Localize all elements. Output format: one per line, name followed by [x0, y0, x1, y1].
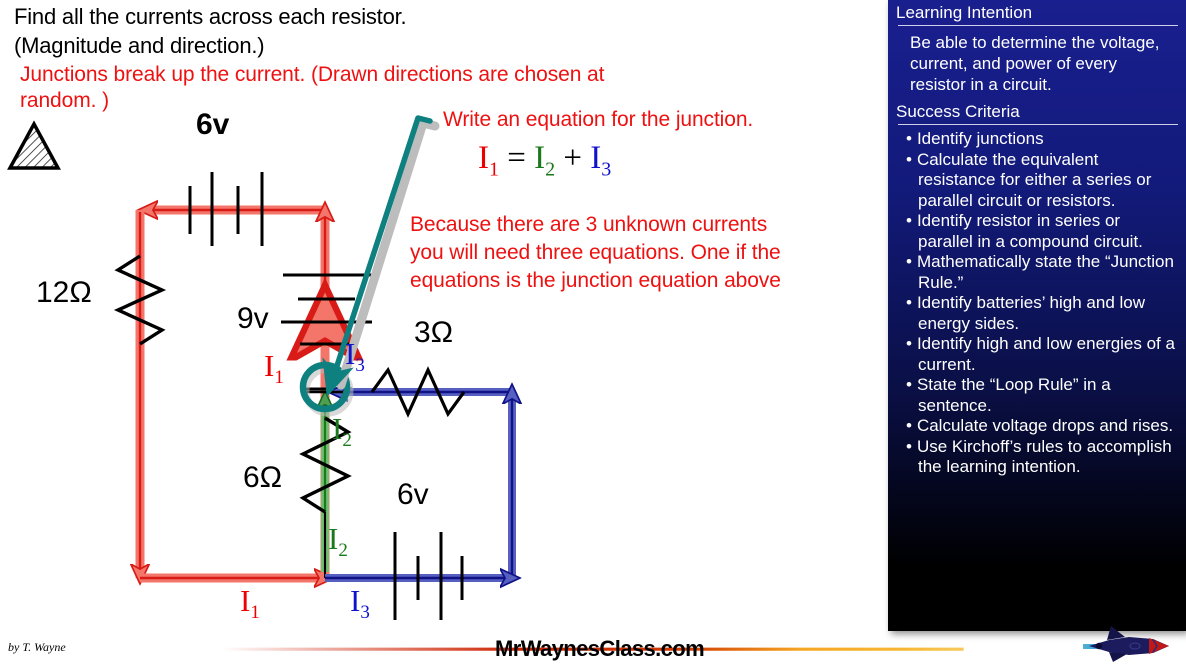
reason-line-2: you will need three equations. One if th…: [410, 240, 781, 266]
equation-equals: =: [507, 140, 526, 176]
label-resistor-3ohm: 3Ω: [414, 316, 453, 350]
current-subscript: 2: [338, 540, 348, 561]
current-subscript: 3: [360, 602, 370, 623]
learning-intention-heading: Learning Intention: [896, 2, 1180, 23]
current-symbol: I: [240, 583, 250, 618]
label-resistor-12ohm: 12Ω: [36, 276, 92, 310]
equation-i1: I: [478, 140, 489, 176]
success-criteria-list: Identify junctions Calculate the equival…: [896, 129, 1180, 478]
list-item: State the “Loop Rule” in a sentence.: [906, 375, 1178, 416]
label-battery-6v-bottom: 6v: [397, 478, 429, 512]
current-subscript: 1: [274, 367, 284, 388]
label-battery-6v-top: 6v: [196, 108, 229, 142]
current-label-i1-upper: I1: [264, 348, 284, 389]
success-criteria-heading: Success Criteria: [896, 101, 1180, 122]
current-subscript: 1: [250, 602, 260, 623]
current-label-i3-lower: I3: [350, 583, 370, 624]
list-item: Identify resistor in series or parallel …: [906, 211, 1178, 252]
reason-line-1: Because there are 3 unknown currents: [410, 212, 767, 238]
pointer-callout-label: Write an equation for the junction.: [443, 107, 753, 133]
list-item: Identify junctions: [906, 129, 1178, 150]
equation-i1-sub: 1: [489, 159, 499, 181]
current-subscript: 2: [342, 430, 352, 451]
list-item: Identify high and low energies of a curr…: [906, 334, 1178, 375]
site-name: MrWaynesClass.com: [495, 636, 704, 662]
byline: by T. Wayne: [8, 640, 66, 655]
divider-learning-intention: [898, 25, 1178, 26]
reason-line-3: equations is the junction equation above: [410, 268, 781, 294]
equation-i3-sub: 3: [601, 159, 611, 181]
current-label-i2-lower: I2: [328, 521, 348, 562]
current-symbol: I: [345, 336, 355, 371]
learning-intention-body: Be able to determine the voltage, curren…: [896, 30, 1180, 101]
list-item: Use Kirchoff’s rules to accomplish the l…: [906, 437, 1178, 478]
list-item: Calculate voltage drops and rises.: [906, 416, 1178, 437]
current-symbol: I: [332, 411, 342, 446]
equation-plus: +: [563, 140, 582, 176]
divider-success-criteria: [898, 124, 1178, 125]
label-resistor-6ohm: 6Ω: [243, 461, 282, 495]
equation-i2: I: [534, 140, 545, 176]
label-battery-9v: 9v: [237, 302, 269, 336]
equation-i3: I: [590, 140, 601, 176]
current-symbol: I: [350, 583, 360, 618]
learning-intention-panel: Learning Intention Be able to determine …: [888, 0, 1186, 631]
current-label-i3-upper: I3: [345, 336, 365, 377]
list-item: Calculate the equivalent resistance for …: [906, 150, 1178, 212]
current-label-i1-lower: I1: [240, 583, 260, 624]
current-label-i2-upper: I2: [332, 411, 352, 452]
current-symbol: I: [264, 348, 274, 383]
current-subscript: 3: [355, 355, 365, 376]
current-symbol: I: [328, 521, 338, 556]
list-item: Identify batteries’ high and low energy …: [906, 293, 1178, 334]
list-item: Mathematically state the “Junction Rule.…: [906, 252, 1178, 293]
pointer-arrow-to-junction: [0, 0, 480, 420]
fish-logo-icon: [1083, 624, 1179, 664]
junction-equation: I1 = I2 + I3: [478, 140, 611, 182]
equation-i2-sub: 2: [545, 159, 555, 181]
